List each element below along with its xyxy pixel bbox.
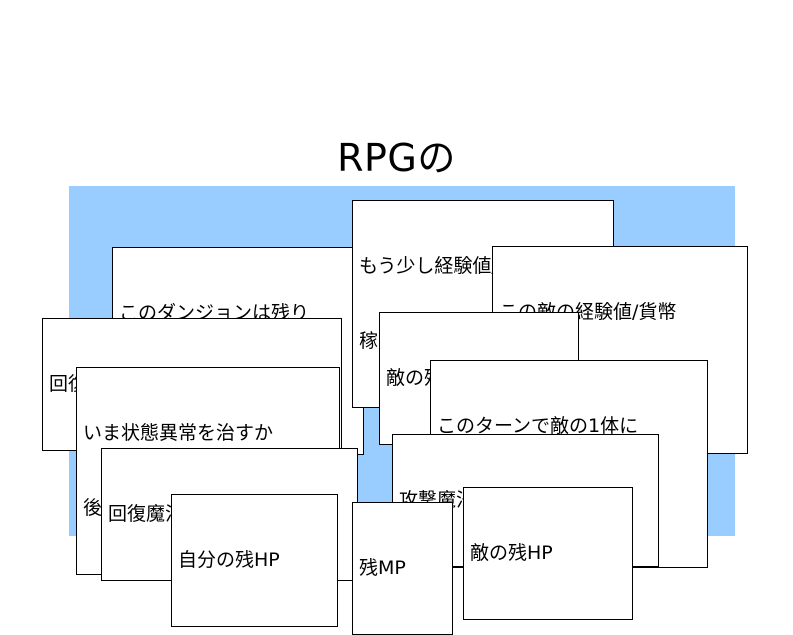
page-title-line-1: RPGの [0,134,793,182]
note-line: 残MP [359,556,442,581]
slide-canvas: RPGの リソースマネジメント このダンジョンは残り あとどれくらい？ もう少し… [0,0,793,595]
note-box-mp[interactable]: 残MP [352,502,453,635]
note-line: いま状態異常を治すか [83,421,329,446]
note-box-enemy-hp[interactable]: 敵の残HP [463,487,633,620]
note-line: 敵の残HP [470,541,622,566]
note-line: 自分の残HP [178,548,327,573]
note-box-own-hp[interactable]: 自分の残HP [171,494,338,627]
